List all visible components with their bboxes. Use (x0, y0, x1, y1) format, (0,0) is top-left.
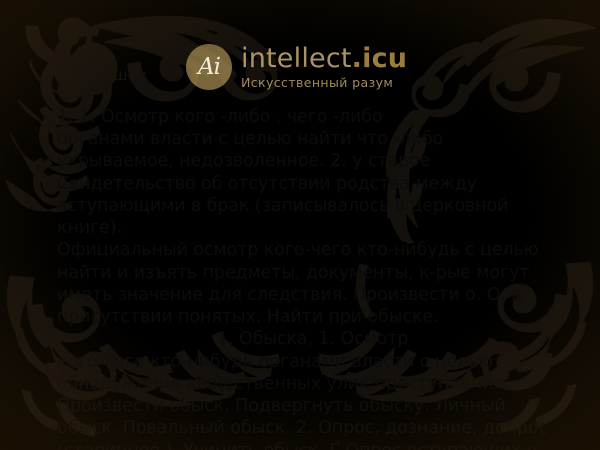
body-line: Свидетельство об отсутствии родства межд… (57, 173, 597, 195)
watermark-text-block: intellect.icu Искусственный разум (241, 45, 407, 90)
body-line: иметь значение для следствия. Произвести… (57, 284, 597, 306)
body-line: органами власти с целью найти что -либо (57, 128, 597, 150)
body-line: обнаружения вещественных улик преступлен… (57, 373, 597, 395)
slide: Ai intellect.icu Искусственный разум мас… (0, 0, 600, 450)
body-line: вступающими в брак (записывалось в церко… (57, 195, 597, 217)
watermark-brand-prefix: intellect (241, 43, 352, 74)
watermark-logo-text: Ai (198, 56, 220, 79)
page-title: маски-шоу (58, 66, 146, 84)
body-line: присутствии понятых. Найти при обыске. (57, 306, 597, 328)
body-line: (старинное ). Учинить обыск. Ґ Опрос вст… (57, 440, 597, 450)
watermark: Ai intellect.icu Искусственный разум (186, 44, 407, 90)
body-line: Официальный осмотр кого-чего кто-нибудь … (57, 239, 597, 261)
watermark-tagline: Искусственный разум (241, 77, 407, 90)
body-line-indented: 1. Обыска, 1. Осмотр (57, 328, 597, 350)
watermark-brand: intellect.icu (241, 45, 407, 72)
body-line: обыск. Повальный обыск. 2. Опрос, дознан… (57, 417, 597, 439)
body-line: укрываемое, недозволенное. 2. у старое (57, 150, 597, 172)
body-text: 1. 1. Осмотр кого -либо , чего -либо орг… (57, 106, 597, 450)
body-line: Произвести обыск. Подвергнуть обыску. Ли… (57, 395, 597, 417)
body-line: книге). (57, 217, 597, 239)
body-line: найти и изъять предметы, документы, к-ры… (57, 262, 597, 284)
body-line: 1. 1. Осмотр кого -либо , чего -либо (57, 106, 597, 128)
body-line: кого-чего кто-нибудь органами власти с ц… (57, 351, 597, 373)
watermark-logo-icon: Ai (186, 44, 232, 90)
watermark-brand-suffix: .icu (352, 43, 408, 74)
